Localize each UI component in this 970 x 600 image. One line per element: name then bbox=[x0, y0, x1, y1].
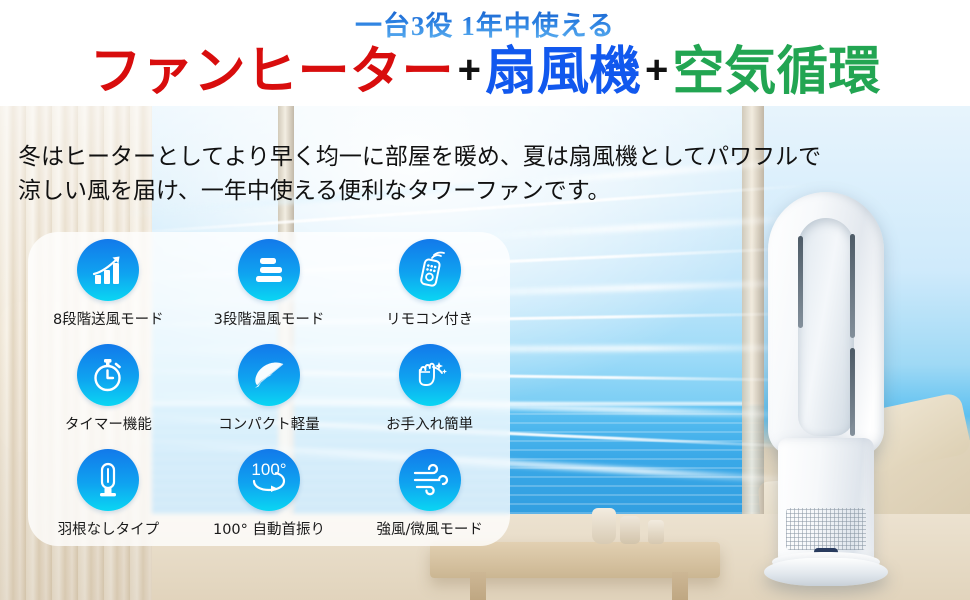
headline: ファンヒーター+扇風機+空気循環 bbox=[0, 40, 970, 103]
feature-label: リモコン付き bbox=[386, 308, 473, 329]
feature-label: 100° 自動首振り bbox=[213, 518, 325, 539]
feature-label: お手入れ簡単 bbox=[386, 413, 473, 434]
decor-vase bbox=[620, 516, 640, 544]
tower-fan-product: 88 bbox=[742, 192, 912, 600]
fan-air-slit bbox=[850, 234, 855, 338]
fan-air-slit bbox=[798, 236, 803, 328]
feature-item: リモコン付き bbox=[349, 232, 510, 337]
feature-label: 羽根なしタイプ bbox=[58, 518, 160, 539]
feather-icon bbox=[238, 344, 300, 406]
three-level-bars-icon bbox=[238, 239, 300, 301]
wind-breeze-icon bbox=[399, 449, 461, 511]
product-banner: 88 一台3役 1年中使える ファンヒーター+扇風機+空気循環 冬はヒーターとし… bbox=[0, 0, 970, 600]
feature-label: コンパクト軽量 bbox=[218, 413, 320, 434]
table-leg bbox=[672, 572, 688, 600]
feature-item: コンパクト軽量 bbox=[189, 337, 350, 442]
rotation-100-degree-icon: 100° bbox=[238, 449, 300, 511]
feature-item: 強風/微風モード bbox=[349, 441, 510, 546]
stopwatch-timer-icon bbox=[77, 344, 139, 406]
tagline: 一台3役 1年中使える bbox=[0, 4, 970, 43]
fan-air-slit bbox=[850, 348, 855, 436]
headline-fan-heater: ファンヒーター bbox=[90, 44, 454, 101]
headline-plus-icon: + bbox=[641, 48, 672, 92]
bladeless-tower-fan-icon bbox=[77, 449, 139, 511]
headline-plus-icon: + bbox=[454, 48, 485, 92]
table-leg bbox=[470, 572, 486, 600]
feature-item: 羽根なしタイプ bbox=[28, 441, 189, 546]
cleaning-hand-sparkle-icon bbox=[399, 344, 461, 406]
fan-loop-opening bbox=[798, 218, 854, 436]
feature-item: タイマー機能 bbox=[28, 337, 189, 442]
description-line-1: 冬はヒーターとしてより早く均一に部屋を暖め、夏は扇風機としてパワフルで bbox=[18, 140, 898, 174]
feature-label: 3段階温風モード bbox=[214, 308, 325, 329]
feature-item: お手入れ簡単 bbox=[349, 337, 510, 442]
decor-vase bbox=[592, 508, 616, 544]
headline-air-circulation: 空気循環 bbox=[672, 44, 880, 101]
feature-label: タイマー機能 bbox=[65, 413, 152, 434]
fan-intake-mesh bbox=[786, 508, 866, 550]
feature-panel: 8段階送風モード 3段階温風モード bbox=[28, 232, 510, 546]
feature-item: 100° 100° 自動首振り bbox=[189, 441, 350, 546]
feature-label: 強風/微風モード bbox=[376, 518, 482, 539]
feature-label: 8段階送風モード bbox=[53, 308, 164, 329]
decor-vase bbox=[648, 520, 664, 544]
fan-pedestal-base bbox=[764, 558, 888, 586]
headline-electric-fan: 扇風機 bbox=[485, 44, 641, 101]
remote-control-icon bbox=[399, 239, 461, 301]
feature-item: 3段階温風モード bbox=[189, 232, 350, 337]
feature-grid: 8段階送風モード 3段階温風モード bbox=[28, 232, 510, 546]
feature-item: 8段階送風モード bbox=[28, 232, 189, 337]
header-band: 一台3役 1年中使える ファンヒーター+扇風機+空気循環 bbox=[0, 0, 970, 106]
bar-chart-growth-icon bbox=[77, 239, 139, 301]
